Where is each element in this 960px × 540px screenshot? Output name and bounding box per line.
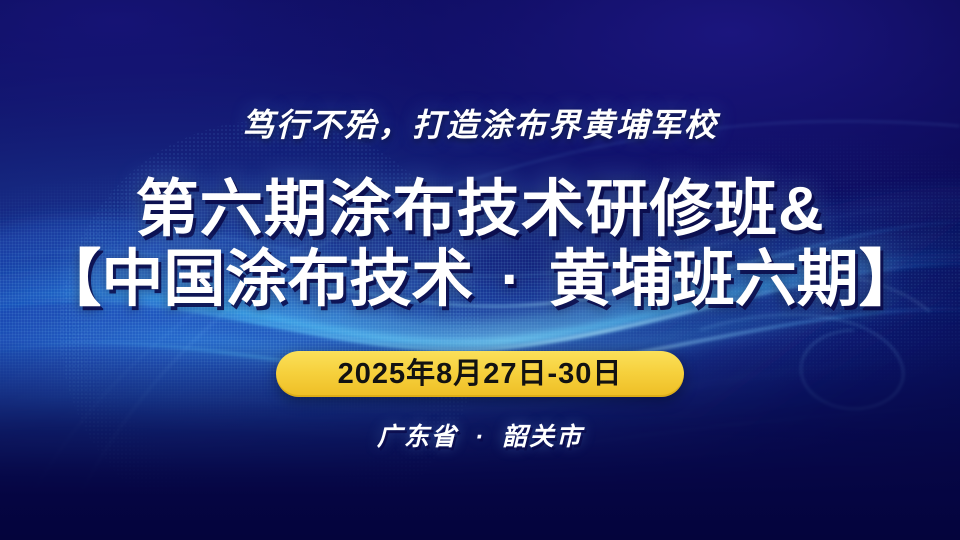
- event-title-line-2-close: 黄埔班六期】: [549, 245, 921, 314]
- event-title-line-2-open: 【中国涂布技术: [39, 245, 473, 314]
- tagline: 笃行不殆，打造涂布界黄埔军校: [0, 100, 960, 146]
- event-banner: 笃行不殆，打造涂布界黄埔军校 第六期涂布技术研修班& 【中国涂布技术 · 黄埔班…: [0, 0, 960, 540]
- event-title-line-2: 【中国涂布技术 · 黄埔班六期】: [0, 246, 960, 314]
- title-separator-dot: ·: [491, 245, 532, 314]
- location-city: 韶关市: [502, 423, 583, 451]
- location-separator-dot: ·: [467, 423, 493, 451]
- event-title-line-1: 第六期涂布技术研修班&: [0, 176, 960, 244]
- banner-content: 笃行不殆，打造涂布界黄埔军校 第六期涂布技术研修班& 【中国涂布技术 · 黄埔班…: [0, 0, 960, 540]
- event-date-badge: 2025年8月27日-30日: [276, 351, 684, 397]
- event-location: 广东省 · 韶关市: [0, 417, 960, 453]
- location-province: 广东省: [377, 423, 458, 451]
